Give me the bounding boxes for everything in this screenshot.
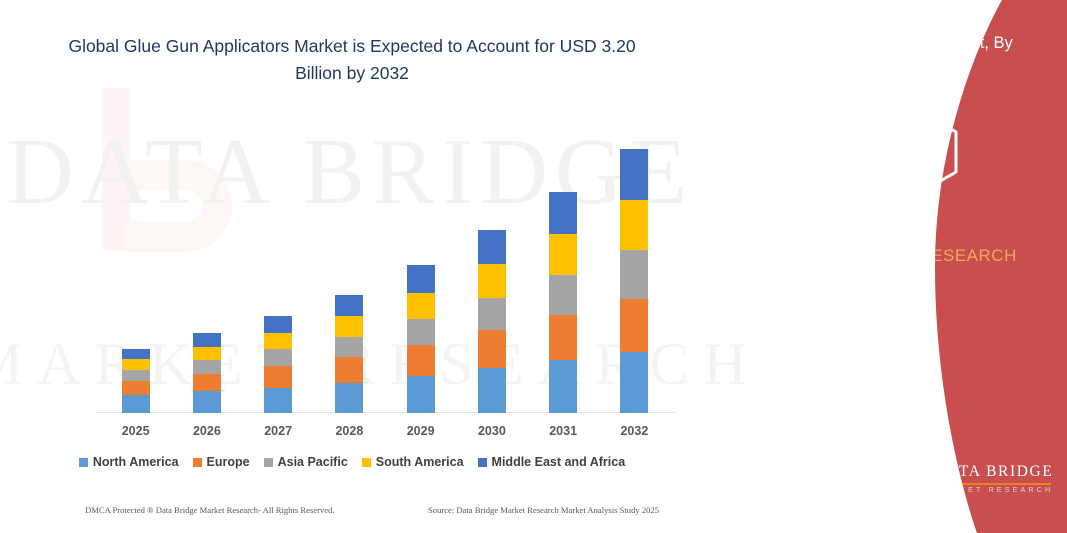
bar-segment-middle-east-and-africa xyxy=(122,349,150,360)
bar-segment-south-america xyxy=(335,316,363,337)
x-axis-label-2031: 2031 xyxy=(533,424,593,438)
dbmr-logo-mark-icon xyxy=(877,457,929,503)
legend-swatch-icon xyxy=(193,458,202,467)
bar-segment-europe xyxy=(478,330,506,368)
bar-segment-north-america xyxy=(122,395,150,413)
legend-item-europe[interactable]: Europe xyxy=(193,455,250,469)
bar-2028 xyxy=(335,295,363,413)
legend-label: North America xyxy=(93,455,179,469)
bar-segment-europe xyxy=(549,315,577,360)
legend-label: Europe xyxy=(207,455,250,469)
bar-segment-asia-pacific xyxy=(264,349,292,366)
bar-segment-north-america xyxy=(335,383,363,413)
x-axis-label-2027: 2027 xyxy=(248,424,308,438)
bar-2030 xyxy=(478,230,506,413)
x-axis-label-2032: 2032 xyxy=(604,424,664,438)
bar-segment-europe xyxy=(122,381,150,396)
bar-segment-south-america xyxy=(122,359,150,370)
chart-title: Global Glue Gun Applicators Market is Ex… xyxy=(60,33,644,87)
bar-segment-asia-pacific xyxy=(478,298,506,330)
bar-segment-north-america xyxy=(620,352,648,413)
legend-item-asia-pacific[interactable]: Asia Pacific xyxy=(264,455,348,469)
x-axis-label-2026: 2026 xyxy=(177,424,237,438)
right-brand-panel: RD Global Glue Gun Applicators Market, B… xyxy=(667,0,1067,533)
hexagon-badge-2025: 2025 xyxy=(886,110,960,194)
bar-segment-north-america xyxy=(193,391,221,413)
logo-primary-text: DATA BRIDGE xyxy=(935,463,1053,481)
bar-segment-middle-east-and-africa xyxy=(193,333,221,347)
bar-2027 xyxy=(264,316,292,413)
legend-label: South America xyxy=(376,455,464,469)
footer-copyright: DMCA Protected ® Data Bridge Market Rese… xyxy=(85,505,335,515)
infographic-canvas: DATA BRIDGE MARKET RESEARCH Global Glue … xyxy=(0,0,1067,533)
legend-swatch-icon xyxy=(79,458,88,467)
hexagon-badge-2032: 2032 xyxy=(795,140,869,224)
bar-segment-middle-east-and-africa xyxy=(478,230,506,264)
footer: DMCA Protected ® Data Bridge Market Rese… xyxy=(0,505,704,525)
bar-segment-asia-pacific xyxy=(620,250,648,299)
bar-segment-europe xyxy=(620,299,648,353)
bar-segment-south-america xyxy=(264,333,292,350)
dbmr-logo: DATA BRIDGE MARKET RESEARCH xyxy=(877,455,1057,507)
bar-segment-middle-east-and-africa xyxy=(620,149,648,200)
bar-segment-asia-pacific xyxy=(122,370,150,381)
bar-segment-middle-east-and-africa xyxy=(407,265,435,292)
bar-segment-north-america xyxy=(478,368,506,413)
bar-2029 xyxy=(407,265,435,413)
chart-legend: North AmericaEuropeAsia PacificSouth Ame… xyxy=(0,455,704,469)
bar-segment-europe xyxy=(335,357,363,382)
bar-segment-europe xyxy=(264,366,292,388)
legend-swatch-icon xyxy=(478,458,487,467)
bar-segment-south-america xyxy=(193,347,221,361)
hexagon-outline-icon xyxy=(886,110,960,194)
legend-item-north-america[interactable]: North America xyxy=(79,455,179,469)
bar-segment-asia-pacific xyxy=(335,337,363,358)
bar-segment-north-america xyxy=(549,360,577,413)
hexagon-2025-label: 2025 xyxy=(904,142,942,162)
hexagon-2032-label: 2032 xyxy=(813,172,851,192)
bar-segment-asia-pacific xyxy=(549,275,577,315)
bar-2026 xyxy=(193,333,221,413)
legend-label: Middle East and Africa xyxy=(492,455,626,469)
x-axis-label-2030: 2030 xyxy=(462,424,522,438)
legend-label: Asia Pacific xyxy=(278,455,348,469)
x-axis-labels: 20252026202720282029203020312032 xyxy=(100,424,670,444)
bar-segment-north-america xyxy=(407,376,435,413)
x-axis-label-2028: 2028 xyxy=(319,424,379,438)
bar-segment-europe xyxy=(407,345,435,376)
legend-item-south-america[interactable]: South America xyxy=(362,455,464,469)
bar-segment-asia-pacific xyxy=(193,360,221,374)
x-axis-label-2025: 2025 xyxy=(106,424,166,438)
panel-title: Global Glue Gun Applicators Market, By R… xyxy=(707,30,1027,84)
bar-segment-south-america xyxy=(620,200,648,250)
legend-swatch-icon xyxy=(362,458,371,467)
bar-segment-middle-east-and-africa xyxy=(549,192,577,234)
panel-brand-text: DATA BRIDGE MARKET RESEARCH xyxy=(697,240,1037,271)
bar-2025 xyxy=(122,348,150,413)
footer-source: Source: Data Bridge Market Research Mark… xyxy=(428,505,659,515)
bar-segment-south-america xyxy=(407,293,435,319)
hexagon-outline-icon xyxy=(795,140,869,224)
bar-2032 xyxy=(620,149,648,413)
bar-segment-south-america xyxy=(549,234,577,275)
bar-segment-middle-east-and-africa xyxy=(335,295,363,317)
stacked-bar-plot xyxy=(100,100,670,413)
legend-swatch-icon xyxy=(264,458,273,467)
bar-2031 xyxy=(549,192,577,413)
bar-segment-europe xyxy=(193,374,221,392)
bar-segment-north-america xyxy=(264,388,292,413)
bar-segment-asia-pacific xyxy=(407,319,435,344)
bar-segment-middle-east-and-africa xyxy=(264,316,292,333)
legend-item-middle-east-and-africa[interactable]: Middle East and Africa xyxy=(478,455,626,469)
bar-segment-south-america xyxy=(478,264,506,297)
x-axis-label-2029: 2029 xyxy=(391,424,451,438)
logo-secondary-text: MARKET RESEARCH xyxy=(935,485,1053,494)
